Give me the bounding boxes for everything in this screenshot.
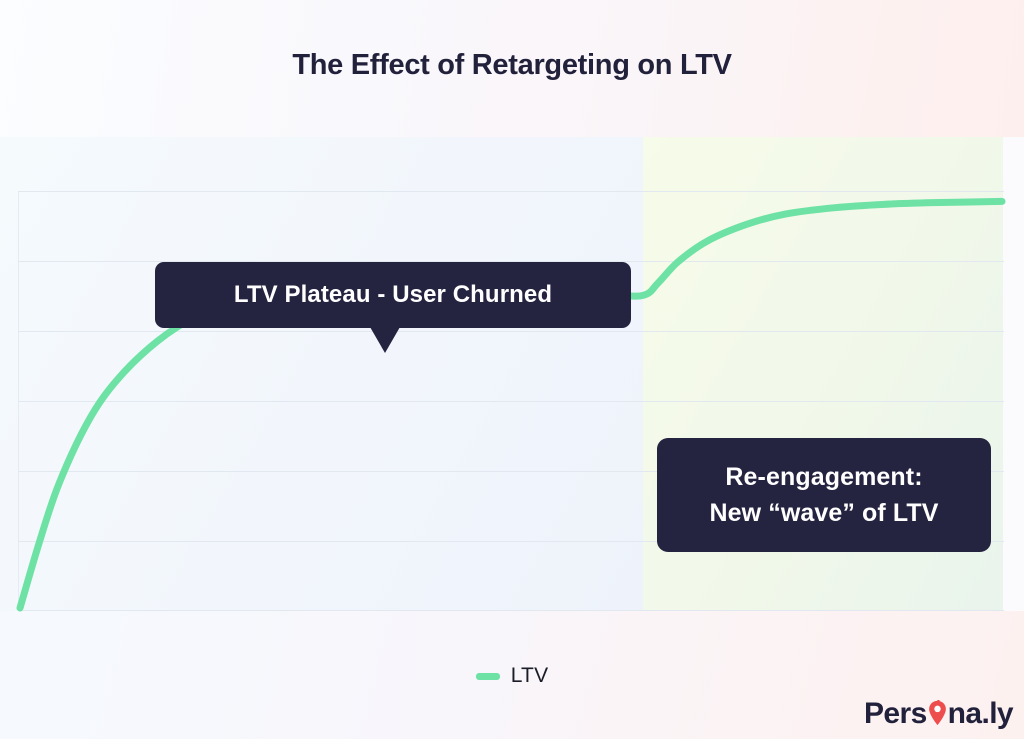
annotation-reengagement[interactable]: Re-engagement: New “wave” of LTV [657,438,991,552]
page-title: The Effect of Retargeting on LTV [0,49,1024,82]
logo-text-after: na.ly [948,697,1013,731]
annotation-reengagement-line1: Re-engagement: [725,463,922,492]
chart-legend: LTV [0,664,1024,688]
annotation-reengagement-line2: New “wave” of LTV [709,499,938,528]
legend-label-ltv: LTV [511,664,549,688]
logo-text-before: Pers [864,697,927,731]
brand-logo[interactable]: Pers na.ly [864,697,1013,731]
location-pin-icon [928,700,947,726]
annotation-plateau-text: LTV Plateau - User Churned [234,283,552,307]
legend-swatch-ltv [476,673,500,680]
annotation-plateau-pointer [370,327,400,353]
slide-canvas: The Effect of Retargeting on LTV LTV Pla… [0,0,1024,739]
annotation-plateau[interactable]: LTV Plateau - User Churned [155,262,631,328]
header-band: The Effect of Retargeting on LTV [0,0,1024,137]
